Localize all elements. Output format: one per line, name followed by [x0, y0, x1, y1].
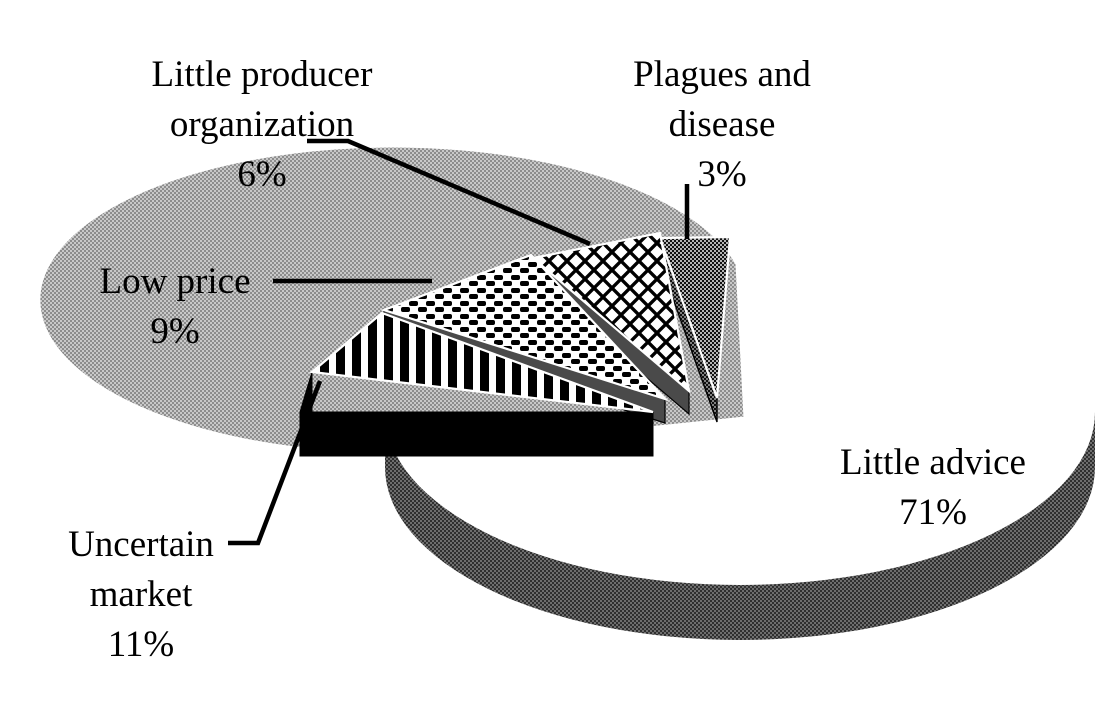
- label-little-advice-percent: 71%: [899, 492, 967, 533]
- label-little-producer-organization-line2: organization: [170, 104, 354, 145]
- label-plagues-and-disease-line1: Plagues and: [633, 54, 811, 95]
- pie-chart-figure: Little producer organization 6% Plagues …: [0, 0, 1108, 714]
- label-low-price-percent: 9%: [150, 311, 199, 352]
- slice-uncertain-market-side: [300, 412, 653, 456]
- label-little-producer-organization-percent: 6%: [237, 154, 286, 195]
- label-uncertain-market-line2: market: [90, 574, 193, 615]
- label-little-producer-organization-line1: Little producer: [152, 54, 373, 95]
- label-plagues-and-disease-percent: 3%: [697, 154, 746, 195]
- label-uncertain-market-percent: 11%: [108, 624, 174, 665]
- label-little-advice-line1: Little advice: [840, 442, 1026, 483]
- label-plagues-and-disease-line2: disease: [669, 104, 776, 145]
- label-uncertain-market-line1: Uncertain: [68, 524, 214, 565]
- label-low-price-line1: Low price: [99, 261, 250, 302]
- pie-chart-canvas: Little producer organization 6% Plagues …: [0, 0, 1108, 714]
